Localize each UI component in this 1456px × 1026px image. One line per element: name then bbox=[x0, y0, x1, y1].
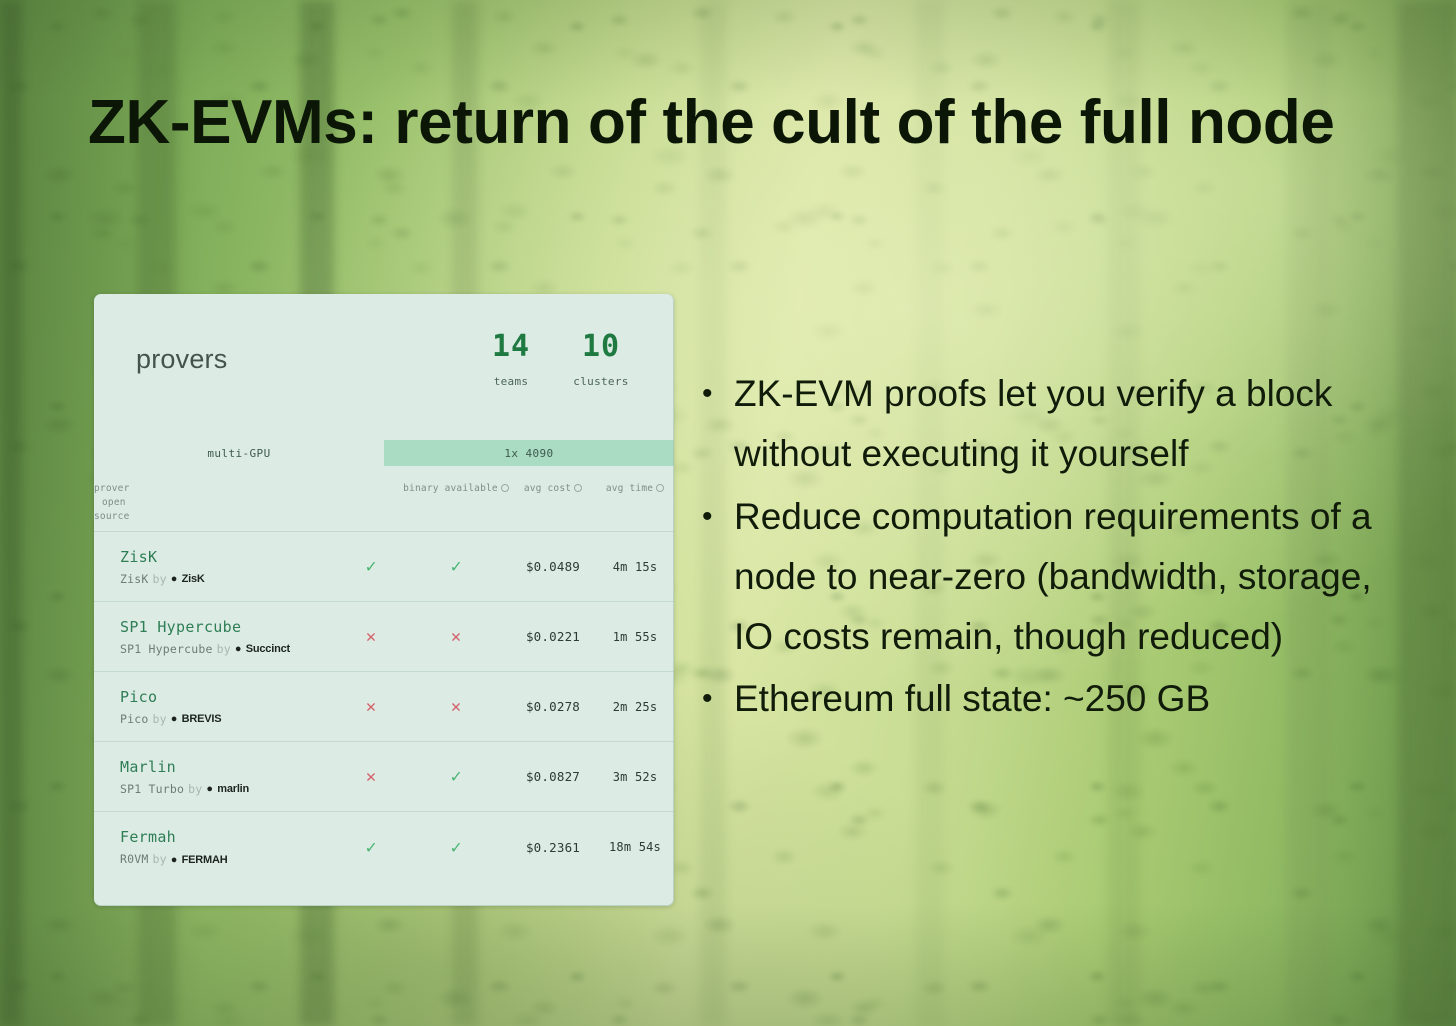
info-icon-binary[interactable] bbox=[501, 484, 509, 492]
metric-clusters-label: clusters bbox=[562, 375, 640, 388]
column-header-avg-cost: avg cost bbox=[510, 482, 596, 523]
bullet-text: ZK-EVM proofs let you verify a block wit… bbox=[734, 364, 1374, 485]
column-header-cost-label: avg cost bbox=[524, 483, 571, 494]
check-icon: ✓ bbox=[451, 766, 462, 787]
table-row[interactable]: Marlin SP1 Turbo by ● marlin ✕ ✓ $0.0827… bbox=[94, 742, 674, 812]
cell-open-source: ✕ bbox=[340, 697, 402, 717]
cell-avg-cost: $0.2361 bbox=[510, 840, 596, 855]
cell-prover: SP1 Hypercube SP1 Hypercube by ● Succinc… bbox=[94, 617, 340, 657]
column-header-prover-line3: source bbox=[94, 510, 340, 524]
prover-sub-brand: Succinct bbox=[246, 642, 290, 656]
check-icon: ✓ bbox=[451, 837, 462, 858]
prover-name: Pico bbox=[120, 687, 340, 707]
prover-sub-product: SP1 Turbo bbox=[120, 782, 184, 797]
cell-avg-time: 18m 54s bbox=[596, 840, 674, 854]
cell-prover: ZisK ZisK by ● ZisK bbox=[94, 547, 340, 587]
cell-prover: Marlin SP1 Turbo by ● marlin bbox=[94, 757, 340, 797]
cell-binary-available: ✕ bbox=[402, 627, 510, 647]
prover-sub-brand: ZisK bbox=[182, 572, 205, 586]
metric-teams-value: 14 bbox=[472, 332, 550, 362]
metric-clusters-value: 10 bbox=[562, 332, 640, 362]
bullet-item: • Reduce computation requirements of a n… bbox=[702, 487, 1374, 668]
brand-logo-icon: ● bbox=[206, 782, 213, 796]
bullet-list: • ZK-EVM proofs let you verify a block w… bbox=[702, 364, 1374, 732]
prover-name: ZisK bbox=[120, 547, 340, 567]
cross-icon: ✕ bbox=[451, 627, 461, 647]
cell-open-source: ✓ bbox=[340, 837, 402, 858]
provers-card: provers 14 teams 10 clusters multi-GPU 1… bbox=[94, 294, 674, 906]
prover-subtitle: ZisK by ● ZisK bbox=[120, 572, 340, 587]
prover-sub-product: R0VM bbox=[120, 852, 149, 867]
metric-teams-label: teams bbox=[472, 375, 550, 388]
prover-name: SP1 Hypercube bbox=[120, 617, 340, 637]
cross-icon: ✕ bbox=[366, 697, 376, 717]
cell-avg-time: 1m 55s bbox=[596, 630, 674, 644]
check-icon: ✓ bbox=[451, 556, 462, 577]
cell-prover: Fermah R0VM by ● FERMAH bbox=[94, 827, 340, 867]
prover-subtitle: Pico by ● BREVIS bbox=[120, 712, 340, 727]
check-icon: ✓ bbox=[366, 556, 377, 577]
brand-logo-icon: ● bbox=[171, 572, 178, 586]
column-header-prover-open-source: prover open source bbox=[94, 482, 340, 523]
cell-open-source: ✕ bbox=[340, 767, 402, 787]
metric-teams: 14 teams bbox=[472, 332, 550, 388]
prover-sub-by: by bbox=[188, 782, 202, 797]
tab-multi-gpu[interactable]: multi-GPU bbox=[94, 440, 384, 466]
bullet-item: • Ethereum full state: ~250 GB bbox=[702, 669, 1374, 729]
prover-name: Marlin bbox=[120, 757, 340, 777]
tab-1x-4090[interactable]: 1x 4090 bbox=[384, 440, 674, 466]
cell-avg-cost: $0.0278 bbox=[510, 699, 596, 714]
prover-sub-brand: BREVIS bbox=[182, 712, 222, 726]
prover-name: Fermah bbox=[120, 827, 340, 847]
brand-logo-icon: ● bbox=[171, 853, 178, 867]
prover-subtitle: R0VM by ● FERMAH bbox=[120, 852, 340, 867]
column-header-binary-available: binary available bbox=[402, 482, 510, 523]
check-icon: ✓ bbox=[366, 837, 377, 858]
slide-title: ZK-EVMs: return of the cult of the full … bbox=[88, 78, 1348, 169]
prover-subtitle: SP1 Hypercube by ● Succinct bbox=[120, 642, 340, 657]
cell-binary-available: ✕ bbox=[402, 697, 510, 717]
table-row[interactable]: Fermah R0VM by ● FERMAH ✓ ✓ $0.2361 18m … bbox=[94, 812, 674, 882]
info-icon-cost[interactable] bbox=[574, 484, 582, 492]
prover-sub-by: by bbox=[153, 712, 167, 727]
column-header-binary-label: binary available bbox=[403, 483, 498, 494]
table-row[interactable]: SP1 Hypercube SP1 Hypercube by ● Succinc… bbox=[94, 602, 674, 672]
cell-avg-time: 3m 52s bbox=[596, 770, 674, 784]
cell-open-source: ✕ bbox=[340, 627, 402, 647]
prover-sub-product: SP1 Hypercube bbox=[120, 642, 213, 657]
column-header-open-source-spacer bbox=[340, 482, 402, 523]
cell-avg-cost: $0.0827 bbox=[510, 769, 596, 784]
prover-subtitle: SP1 Turbo by ● marlin bbox=[120, 782, 340, 797]
bullet-text: Ethereum full state: ~250 GB bbox=[734, 669, 1374, 729]
metric-clusters: 10 clusters bbox=[562, 332, 640, 388]
prover-sub-product: ZisK bbox=[120, 572, 149, 587]
table-row[interactable]: ZisK ZisK by ● ZisK ✓ ✓ $0.0489 4m 15s bbox=[94, 532, 674, 602]
cross-icon: ✕ bbox=[366, 767, 376, 787]
table-column-headers: prover open source binary available avg … bbox=[94, 466, 674, 532]
bullet-text: Reduce computation requirements of a nod… bbox=[734, 487, 1374, 668]
prover-sub-by: by bbox=[153, 572, 167, 587]
cell-binary-available: ✓ bbox=[402, 766, 510, 787]
column-header-prover-line2: open bbox=[94, 496, 340, 510]
column-header-avg-time: avg time bbox=[596, 482, 674, 523]
column-header-prover-line1: prover bbox=[94, 482, 340, 496]
prover-sub-brand: FERMAH bbox=[182, 853, 228, 867]
slide-root: ZK-EVMs: return of the cult of the full … bbox=[0, 0, 1456, 1026]
cell-avg-time: 4m 15s bbox=[596, 560, 674, 574]
prover-sub-by: by bbox=[217, 642, 231, 657]
bullet-dot-icon: • bbox=[702, 669, 734, 728]
prover-sub-brand: marlin bbox=[217, 782, 249, 796]
gpu-tier-tabs[interactable]: multi-GPU 1x 4090 bbox=[94, 440, 674, 466]
info-icon-time[interactable] bbox=[656, 484, 664, 492]
prover-sub-by: by bbox=[153, 852, 167, 867]
provers-card-title: provers bbox=[136, 332, 472, 375]
provers-table-body: ZisK ZisK by ● ZisK ✓ ✓ $0.0489 4m 15s S… bbox=[94, 532, 674, 882]
table-row[interactable]: Pico Pico by ● BREVIS ✕ ✕ $0.0278 2m 25s bbox=[94, 672, 674, 742]
brand-logo-icon: ● bbox=[235, 642, 242, 656]
cell-avg-cost: $0.0489 bbox=[510, 559, 596, 574]
brand-logo-icon: ● bbox=[171, 712, 178, 726]
cell-binary-available: ✓ bbox=[402, 556, 510, 577]
cross-icon: ✕ bbox=[451, 697, 461, 717]
cross-icon: ✕ bbox=[366, 627, 376, 647]
cell-avg-time: 2m 25s bbox=[596, 700, 674, 714]
prover-sub-product: Pico bbox=[120, 712, 149, 727]
cell-open-source: ✓ bbox=[340, 556, 402, 577]
cell-avg-cost: $0.0221 bbox=[510, 629, 596, 644]
column-header-time-label: avg time bbox=[606, 483, 653, 494]
cell-prover: Pico Pico by ● BREVIS bbox=[94, 687, 340, 727]
bullet-dot-icon: • bbox=[702, 364, 734, 423]
bullet-item: • ZK-EVM proofs let you verify a block w… bbox=[702, 364, 1374, 485]
provers-card-header: provers 14 teams 10 clusters bbox=[94, 294, 674, 440]
cell-binary-available: ✓ bbox=[402, 837, 510, 858]
bullet-dot-icon: • bbox=[702, 487, 734, 546]
